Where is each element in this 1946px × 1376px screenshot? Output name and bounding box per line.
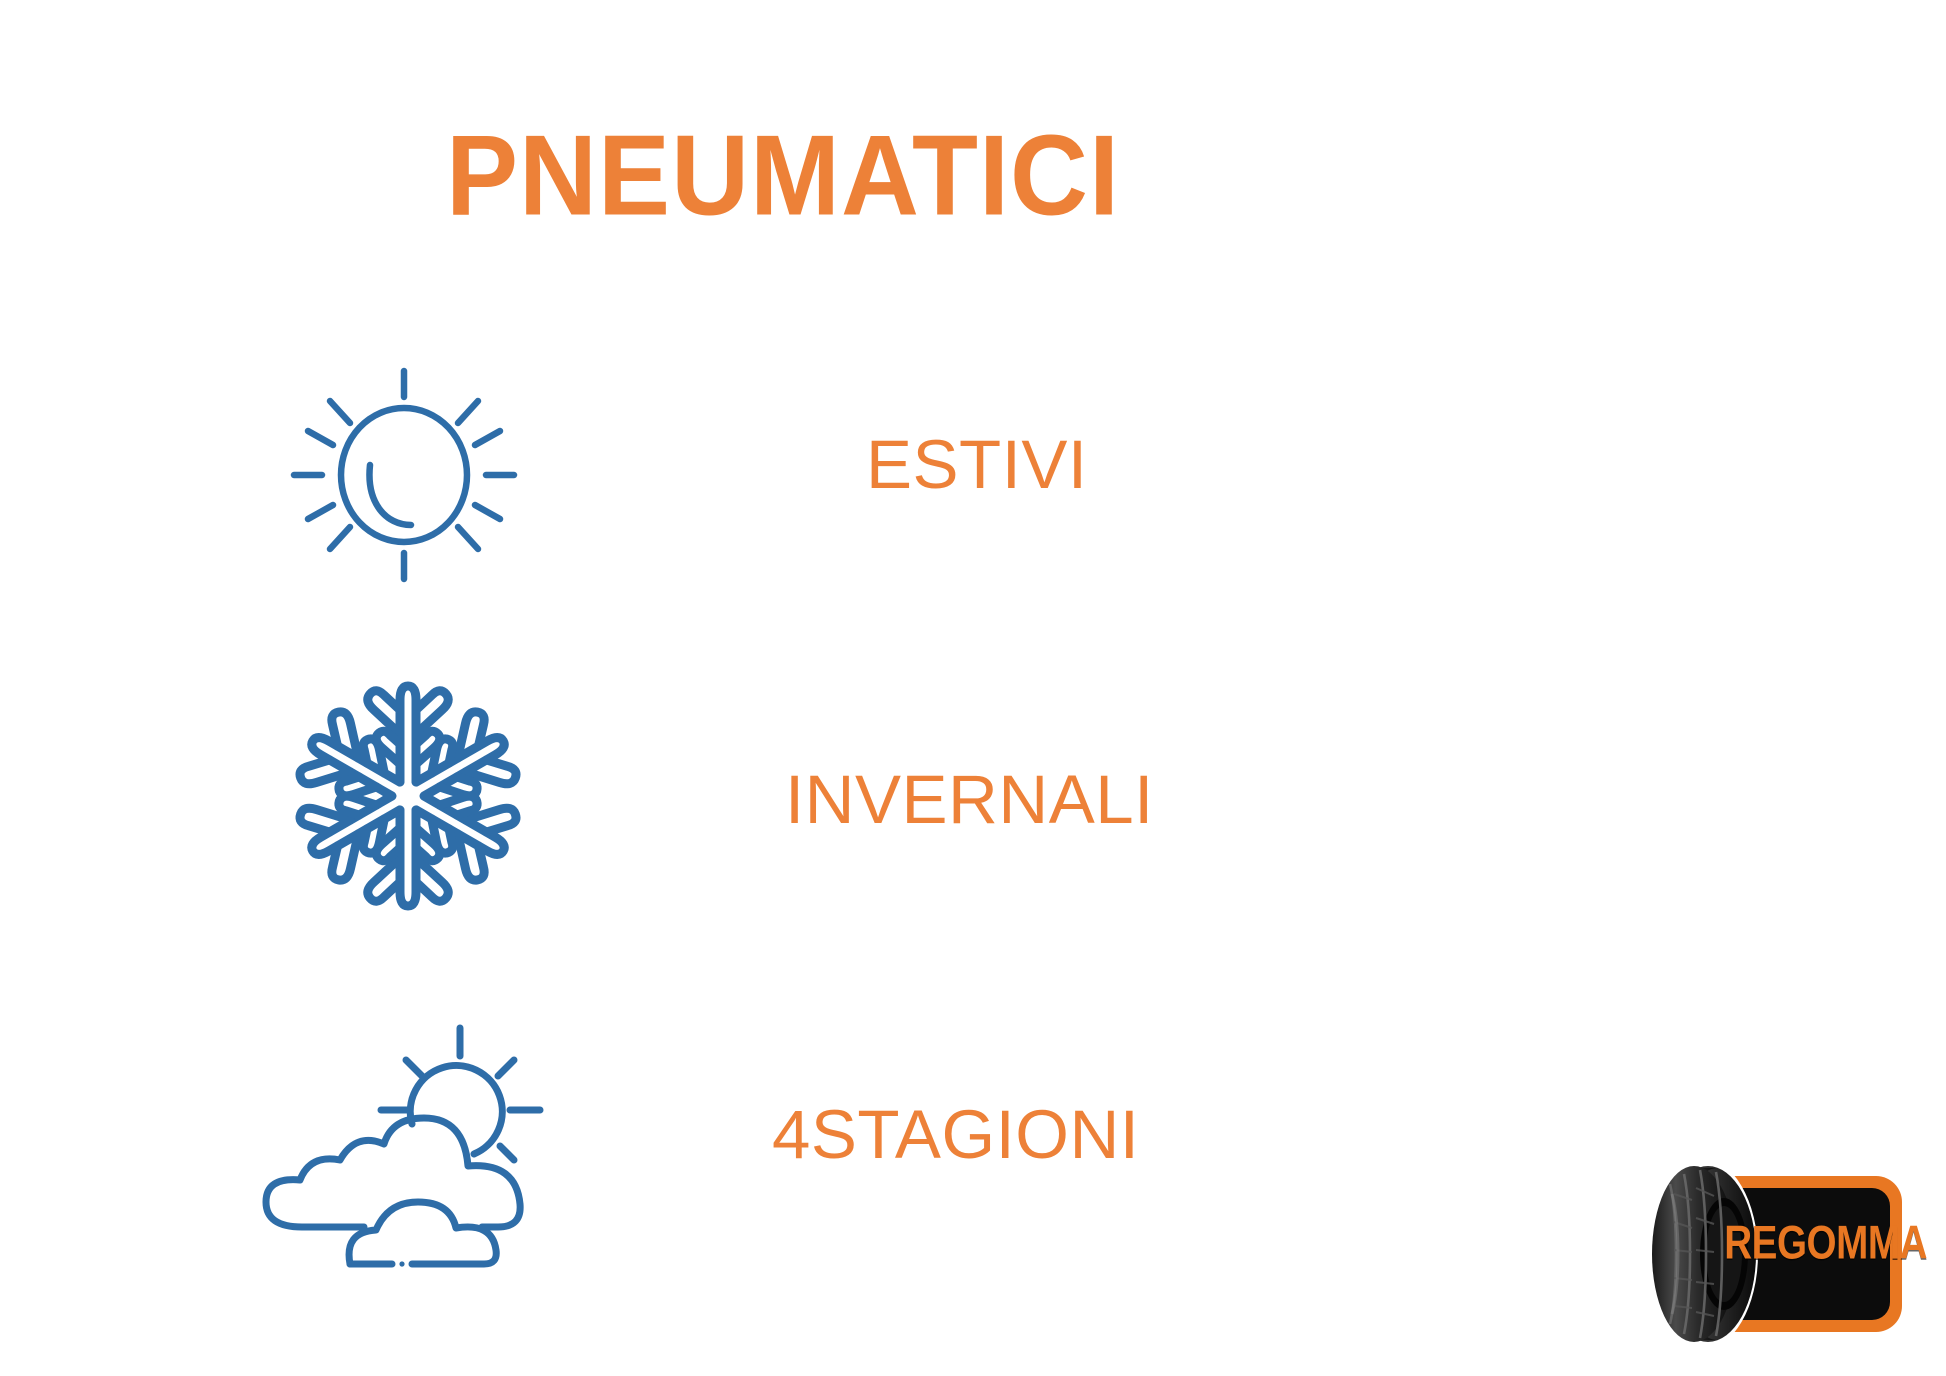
tire-icon bbox=[1646, 1158, 1758, 1350]
tyre-type-row-estivi: ESTIVI bbox=[0, 345, 1946, 585]
tyre-type-label-4stagioni: 4STAGIONI bbox=[772, 1100, 1139, 1169]
sun-behind-clouds-icon bbox=[252, 1014, 548, 1280]
page-title: PNEUMATICI bbox=[0, 118, 1946, 226]
regomma-logo: REGOMMA bbox=[1612, 1148, 1912, 1360]
snowflake-icon bbox=[288, 670, 528, 922]
tyre-type-label-invernali: INVERNALI bbox=[785, 765, 1154, 834]
page-title-text: PNEUMATICI bbox=[446, 118, 1120, 232]
tyre-type-label-estivi: ESTIVI bbox=[866, 430, 1088, 499]
logo-artwork bbox=[1612, 1148, 1912, 1360]
sun-icon bbox=[278, 353, 530, 597]
tyre-type-row-invernali: INVERNALI bbox=[0, 675, 1946, 915]
